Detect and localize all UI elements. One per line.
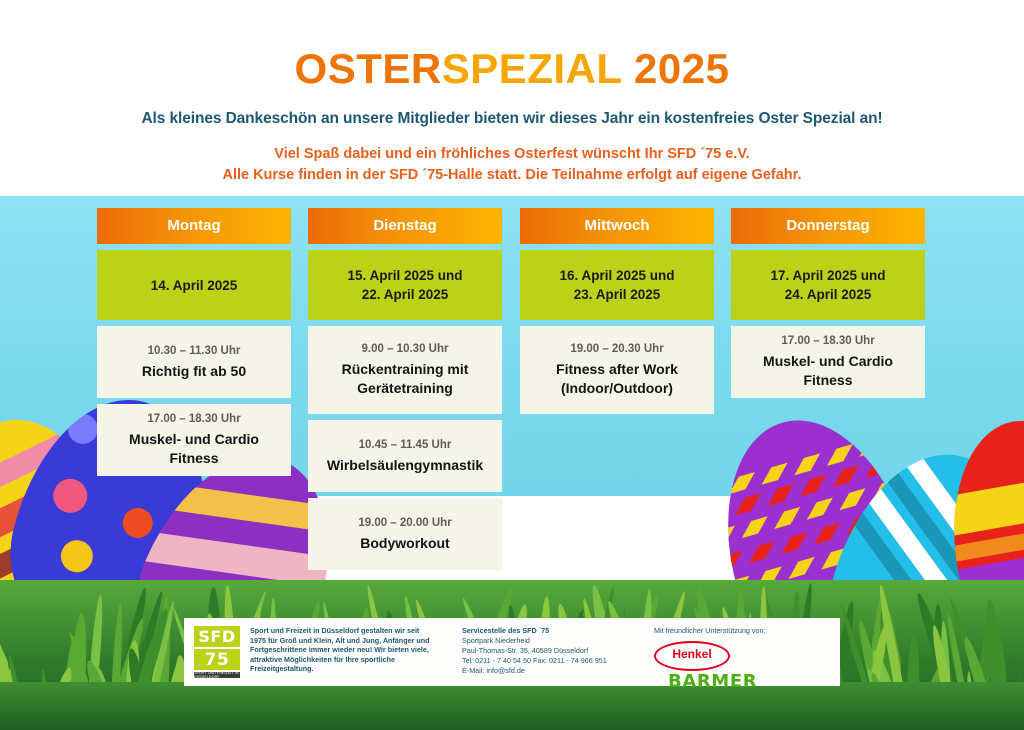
column-dates: 17. April 2025 und 24. April 2025 xyxy=(731,250,925,320)
schedule-column-donnerstag: Donnerstag 17. April 2025 und 24. April … xyxy=(731,208,925,398)
title-part-oster: OSTER xyxy=(295,45,442,92)
course-name: Muskel- und Cardio Fitness xyxy=(739,352,917,390)
egg-dot xyxy=(57,537,96,576)
egg-dot xyxy=(50,475,91,516)
subtitle-line-3: Alle Kurse finden in der SFD ´75-Halle s… xyxy=(0,165,1024,186)
schedule-column-mittwoch: Mittwoch 16. April 2025 und 23. April 20… xyxy=(520,208,714,414)
course-time: 10.45 – 11.45 Uhr xyxy=(359,438,452,453)
course-time: 19.00 – 20.00 Uhr xyxy=(358,516,451,531)
course-slot: 19.00 – 20.30 Uhr Fitness after Work (In… xyxy=(520,326,714,414)
course-slot: 10.45 – 11.45 Uhr Wirbelsäulengymnastik xyxy=(308,420,502,492)
column-day-header: Mittwoch xyxy=(520,208,714,244)
subtitle-line-1: Als kleines Dankeschön an unsere Mitglie… xyxy=(0,110,1024,128)
column-dates: 15. April 2025 und 22. April 2025 xyxy=(308,250,502,320)
course-time: 10.30 – 11.30 Uhr xyxy=(148,344,241,359)
sfd-logo-tagline: SPORT UND FREIZEIT IN DÜSSELDORF xyxy=(194,672,240,678)
column-dates: 14. April 2025 xyxy=(97,250,291,320)
course-name: Fitness after Work (Indoor/Outdoor) xyxy=(556,360,678,398)
title-part-spezial: SPEZIAL xyxy=(442,45,622,92)
column-day-header: Donnerstag xyxy=(731,208,925,244)
course-slot: 9.00 – 10.30 Uhr Rückentraining mit Gerä… xyxy=(308,326,502,414)
contact-title: Servicestelle des SFD ´75 xyxy=(462,626,652,636)
sfd-logo: SFD 75 SPORT UND FREIZEIT IN DÜSSELDORF xyxy=(194,626,240,678)
contact-email[interactable]: E-Mail: info@sfd.de xyxy=(462,666,652,676)
course-slot: 10.30 – 11.30 Uhr Richtig fit ab 50 xyxy=(97,326,291,398)
page-title: OSTERSPEZIAL 2025 xyxy=(0,48,1024,90)
sponsors-label: Mit freundlicher Unterstützung von: xyxy=(654,626,830,635)
course-name: Richtig fit ab 50 xyxy=(142,362,246,381)
sfd-logo-top: SFD xyxy=(194,626,240,647)
footer-sponsors: Mit freundlicher Unterstützung von: Henk… xyxy=(654,626,830,692)
barmer-logo: BARMER xyxy=(668,671,757,692)
contact-line-1: Sportpark Niederheid xyxy=(462,636,652,646)
course-name: Rückentraining mit Gerätetraining xyxy=(342,360,469,398)
contact-line-3: Tel: 0211 - 7 40 54 50 Fax: 0211 - 74 96… xyxy=(462,656,652,666)
schedule-column-montag: Montag 14. April 2025 10.30 – 11.30 Uhr … xyxy=(97,208,291,476)
course-slot: 19.00 – 20.00 Uhr Bodyworkout xyxy=(308,498,502,570)
easter-special-poster: OSTERSPEZIAL 2025 Als kleines Dankeschön… xyxy=(0,0,1024,730)
course-name: Muskel- und Cardio Fitness xyxy=(105,430,283,468)
course-time: 9.00 – 10.30 Uhr xyxy=(362,342,449,357)
subtitle-line-2: Viel Spaß dabei und ein fröhliches Oster… xyxy=(0,144,1024,165)
course-time: 17.00 – 18.30 Uhr xyxy=(781,334,874,349)
column-dates: 16. April 2025 und 23. April 2025 xyxy=(520,250,714,320)
course-slot: 17.00 – 18.30 Uhr Muskel- und Cardio Fit… xyxy=(97,404,291,476)
footer-about-text: Sport und Freizeit in Düsseldorf gestalt… xyxy=(250,626,435,674)
column-day-header: Dienstag xyxy=(308,208,502,244)
footer-contact: Servicestelle des SFD ´75 Sportpark Nied… xyxy=(462,626,652,676)
schedule-column-dienstag: Dienstag 15. April 2025 und 22. April 20… xyxy=(308,208,502,570)
course-name: Bodyworkout xyxy=(360,534,449,553)
course-time: 19.00 – 20.30 Uhr xyxy=(570,342,663,357)
course-slot: 17.00 – 18.30 Uhr Muskel- und Cardio Fit… xyxy=(731,326,925,398)
footer-panel: SFD 75 SPORT UND FREIZEIT IN DÜSSELDORF … xyxy=(184,618,840,686)
column-day-header: Montag xyxy=(97,208,291,244)
course-time: 17.00 – 18.30 Uhr xyxy=(147,412,240,427)
contact-line-2: Paul-Thomas-Str. 35, 40589 Düsseldorf xyxy=(462,646,652,656)
sfd-logo-bottom: 75 xyxy=(194,649,240,670)
course-name: Wirbelsäulengymnastik xyxy=(327,456,483,475)
title-part-year: 2025 xyxy=(634,45,729,92)
henkel-logo: Henkel xyxy=(654,641,730,671)
grass-foreground xyxy=(0,682,1024,730)
egg-dot xyxy=(120,505,156,541)
